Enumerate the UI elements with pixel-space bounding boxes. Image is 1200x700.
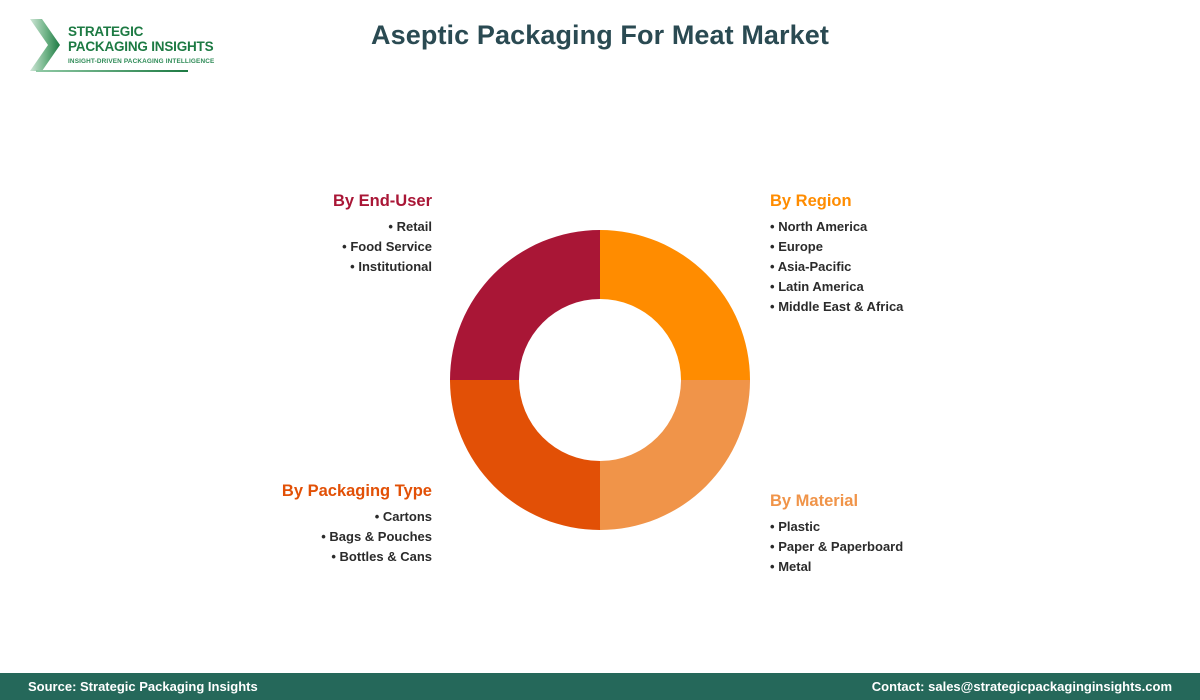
bullet-icon: • [375, 509, 380, 524]
segment-block-packaging-type: By Packaging Type • Cartons • Bags & Pou… [150, 482, 432, 567]
donut-slice-material[interactable] [600, 380, 750, 530]
bullet-icon: • [770, 259, 775, 274]
bullet-icon: • [770, 559, 775, 574]
list-item-label: North America [778, 219, 867, 234]
list-item-label: Institutional [358, 259, 432, 274]
bullet-icon: • [350, 259, 355, 274]
bullet-icon: • [770, 279, 775, 294]
list-item-label: Paper & Paperboard [778, 539, 903, 554]
list-item-label: Metal [778, 559, 811, 574]
list-item-label: Middle East & Africa [778, 299, 903, 314]
bullet-icon: • [342, 239, 347, 254]
list-item: • Asia-Pacific [770, 257, 1070, 277]
list-item-label: Retail [397, 219, 432, 234]
logo-underline-divider [36, 70, 188, 72]
footer-contact: Contact: sales@strategicpackaginginsight… [872, 679, 1172, 694]
bullet-icon: • [770, 299, 775, 314]
segment-block-material: By Material • Plastic • Paper & Paperboa… [770, 492, 1070, 577]
list-item-label: Food Service [350, 239, 432, 254]
bullet-icon: • [770, 519, 775, 534]
list-item-label: Asia-Pacific [778, 259, 852, 274]
donut-chart [450, 230, 750, 530]
donut-slice-region[interactable] [600, 230, 750, 380]
donut-slice-packaging-type[interactable] [450, 380, 600, 530]
list-item-label: Bags & Pouches [329, 529, 432, 544]
list-item-label: Bottles & Cans [340, 549, 432, 564]
segment-title-region: By Region [770, 192, 1070, 211]
donut-slice-end-user[interactable] [450, 230, 600, 380]
segment-title-packaging-type: By Packaging Type [150, 482, 432, 501]
donut-chart-svg [450, 230, 750, 530]
segment-list-end-user: • Retail • Food Service • Institutional [150, 217, 432, 277]
list-item: • Cartons [150, 507, 432, 527]
list-item: • Middle East & Africa [770, 297, 1070, 317]
logo-tagline: INSIGHT-DRIVEN PACKAGING INTELLIGENCE [68, 59, 214, 65]
list-item: • Institutional [150, 257, 432, 277]
segment-list-region: • North America • Europe • Asia-Pacific … [770, 217, 1070, 317]
list-item-label: Latin America [778, 279, 864, 294]
list-item: • North America [770, 217, 1070, 237]
segment-block-region: By Region • North America • Europe • Asi… [770, 192, 1070, 317]
list-item: • Latin America [770, 277, 1070, 297]
list-item: • Food Service [150, 237, 432, 257]
footer-bar: Source: Strategic Packaging Insights Con… [0, 673, 1200, 700]
list-item: • Bags & Pouches [150, 527, 432, 547]
list-item: • Europe [770, 237, 1070, 257]
segment-list-material: • Plastic • Paper & Paperboard • Metal [770, 517, 1070, 577]
bullet-icon: • [321, 529, 326, 544]
list-item: • Plastic [770, 517, 1070, 537]
list-item-label: Cartons [383, 509, 432, 524]
segment-block-end-user: By End-User • Retail • Food Service • In… [150, 192, 432, 277]
bullet-icon: • [331, 549, 336, 564]
segment-list-packaging-type: • Cartons • Bags & Pouches • Bottles & C… [150, 507, 432, 567]
segment-title-material: By Material [770, 492, 1070, 511]
list-item: • Metal [770, 557, 1070, 577]
footer-source: Source: Strategic Packaging Insights [28, 679, 258, 694]
list-item-label: Europe [778, 239, 823, 254]
list-item: • Paper & Paperboard [770, 537, 1070, 557]
bullet-icon: • [770, 539, 775, 554]
bullet-icon: • [388, 219, 393, 234]
list-item-label: Plastic [778, 519, 820, 534]
list-item: • Retail [150, 217, 432, 237]
page-title: Aseptic Packaging For Meat Market [0, 20, 1200, 51]
bullet-icon: • [770, 239, 775, 254]
bullet-icon: • [770, 219, 775, 234]
list-item: • Bottles & Cans [150, 547, 432, 567]
segment-title-end-user: By End-User [150, 192, 432, 211]
